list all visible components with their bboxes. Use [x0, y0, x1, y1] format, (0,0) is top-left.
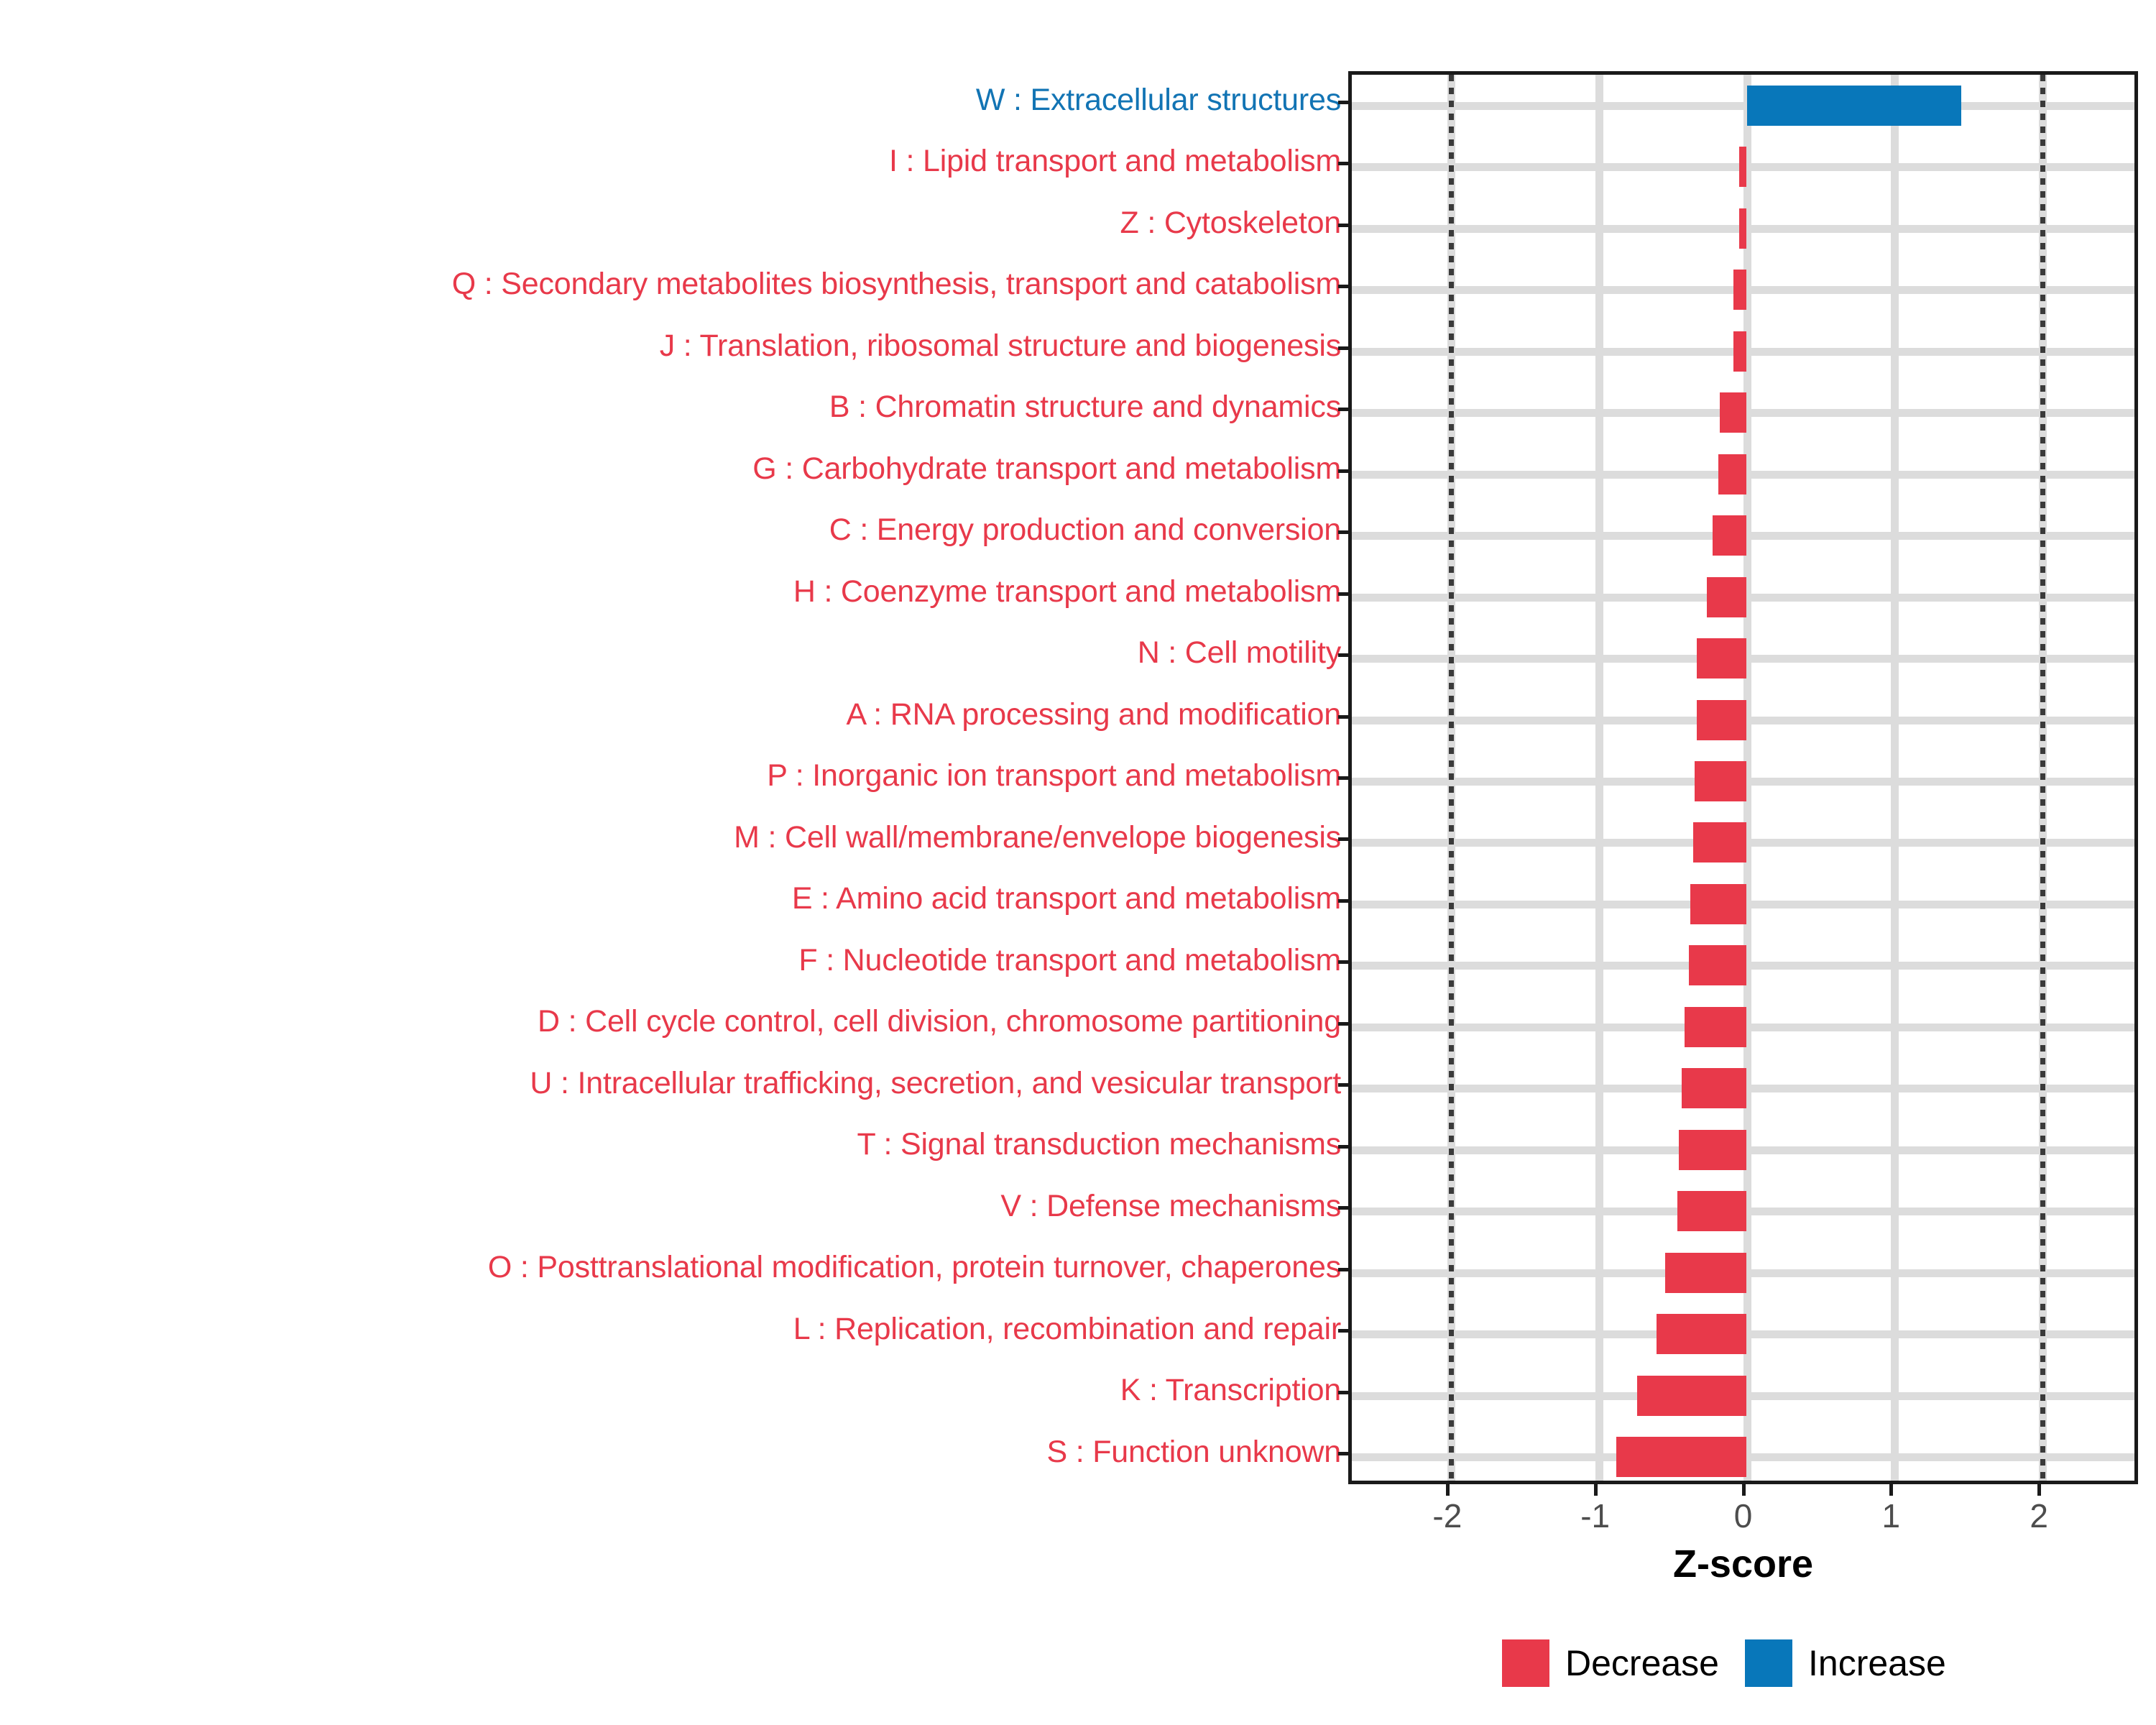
y-axis-tick [1338, 346, 1348, 350]
legend-swatch-icon [1502, 1639, 1549, 1687]
bar [1747, 86, 1961, 126]
y-axis-label: M : Cell wall/membrane/envelope biogenes… [734, 809, 1341, 868]
bar [1679, 1130, 1747, 1170]
x-axis-tick [1446, 1484, 1450, 1496]
y-axis-label: B : Chromatin structure and dynamics [829, 378, 1341, 437]
y-axis-tick [1338, 224, 1348, 227]
y-axis-tick [1338, 776, 1348, 780]
bar [1677, 1191, 1747, 1231]
bar [1693, 822, 1746, 862]
x-axis-tick-label: -2 [1404, 1496, 1491, 1535]
bar [1720, 392, 1746, 433]
x-axis-tick-label: 2 [1996, 1496, 2082, 1535]
bar [1616, 1437, 1746, 1477]
legend-swatch-icon [1745, 1639, 1792, 1687]
y-axis-label: K : Transcription [1120, 1361, 1341, 1420]
y-axis-label: V : Defense mechanisms [1000, 1177, 1341, 1236]
bar [1690, 884, 1746, 924]
bar [1739, 147, 1746, 187]
bar [1689, 945, 1746, 985]
y-axis-label: H : Coenzyme transport and metabolism [793, 563, 1341, 622]
y-axis-tick [1338, 960, 1348, 964]
y-axis-label: P : Inorganic ion transport and metaboli… [767, 747, 1341, 806]
bar [1682, 1068, 1747, 1108]
reference-line [1449, 75, 1454, 1481]
x-axis-tick [1889, 1484, 1893, 1496]
y-axis-tick [1338, 1022, 1348, 1026]
y-axis-label: E : Amino acid transport and metabolism [792, 870, 1341, 929]
legend-label: Decrease [1565, 1642, 1719, 1684]
x-axis-tick [2037, 1484, 2041, 1496]
x-axis-tick-label: 0 [1700, 1496, 1787, 1535]
y-axis-tick [1338, 1083, 1348, 1087]
cog-zscore-bar-chart: W : Extracellular structuresI : Lipid tr… [0, 0, 2156, 1725]
y-axis-tick [1338, 408, 1348, 411]
y-axis-tick [1338, 899, 1348, 903]
y-axis-label: S : Function unknown [1046, 1423, 1341, 1482]
x-axis-tick [1742, 1484, 1746, 1496]
bar [1718, 454, 1746, 494]
reference-line [2040, 75, 2045, 1481]
plot-panel [1348, 71, 2138, 1484]
y-axis-tick [1338, 1206, 1348, 1210]
y-axis-label: L : Replication, recombination and repai… [793, 1300, 1341, 1359]
y-axis-tick [1338, 592, 1348, 596]
legend-label: Increase [1808, 1642, 1946, 1684]
vertical-gridline [1595, 75, 1603, 1481]
bar [1697, 700, 1747, 740]
y-axis-tick [1338, 1268, 1348, 1271]
y-axis-label: T : Signal transduction mechanisms [857, 1115, 1341, 1174]
y-axis-label: W : Extracellular structures [976, 71, 1341, 130]
y-axis-label: F : Nucleotide transport and metabolism [798, 931, 1341, 990]
y-axis-label: I : Lipid transport and metabolism [889, 132, 1341, 191]
y-axis-tick [1338, 162, 1348, 165]
bar [1657, 1314, 1747, 1354]
bar [1637, 1376, 1746, 1416]
bar [1685, 1007, 1746, 1047]
bar [1739, 208, 1746, 249]
y-axis-tick [1338, 715, 1348, 719]
y-axis-tick [1338, 530, 1348, 534]
x-axis-title: Z-score [1348, 1542, 2138, 1586]
y-axis-tick [1338, 1391, 1348, 1394]
x-axis-tick-label: 1 [1848, 1496, 1934, 1535]
bar [1733, 270, 1747, 310]
y-axis-label: C : Energy production and conversion [829, 501, 1341, 560]
vertical-gridline [1891, 75, 1899, 1481]
y-axis-label: D : Cell cycle control, cell division, c… [538, 993, 1341, 1052]
y-axis-tick [1338, 285, 1348, 288]
y-axis-label: A : RNA processing and modification [846, 686, 1341, 745]
y-axis-tick [1338, 101, 1348, 104]
y-axis-label: N : Cell motility [1138, 624, 1341, 683]
x-axis-tick-label: -1 [1552, 1496, 1639, 1535]
x-axis-tick [1594, 1484, 1598, 1496]
y-axis-label: Q : Secondary metabolites biosynthesis, … [452, 255, 1341, 314]
y-axis-tick [1338, 653, 1348, 657]
y-axis-label: O : Posttranslational modification, prot… [488, 1238, 1341, 1297]
legend-item[interactable]: Increase [1745, 1639, 1946, 1687]
y-axis-tick [1338, 1452, 1348, 1455]
bar [1665, 1253, 1746, 1293]
y-axis-tick [1338, 837, 1348, 841]
bar [1733, 331, 1747, 372]
y-axis-tick [1338, 1145, 1348, 1149]
bar [1713, 515, 1746, 556]
y-axis-tick [1338, 1329, 1348, 1333]
y-axis-label: G : Carbohydrate transport and metabolis… [752, 440, 1341, 499]
bar [1697, 638, 1747, 678]
bar [1707, 577, 1747, 617]
legend-item[interactable]: Decrease [1502, 1639, 1719, 1687]
bar [1695, 761, 1746, 801]
y-axis-label: J : Translation, ribosomal structure and… [660, 317, 1341, 376]
y-axis-label: U : Intracellular trafficking, secretion… [530, 1054, 1341, 1113]
y-axis-tick [1338, 469, 1348, 473]
y-axis-label: Z : Cytoskeleton [1120, 194, 1341, 253]
y-axis-category-labels: W : Extracellular structuresI : Lipid tr… [0, 71, 1341, 1484]
chart-legend: DecreaseIncrease [1502, 1639, 1946, 1687]
